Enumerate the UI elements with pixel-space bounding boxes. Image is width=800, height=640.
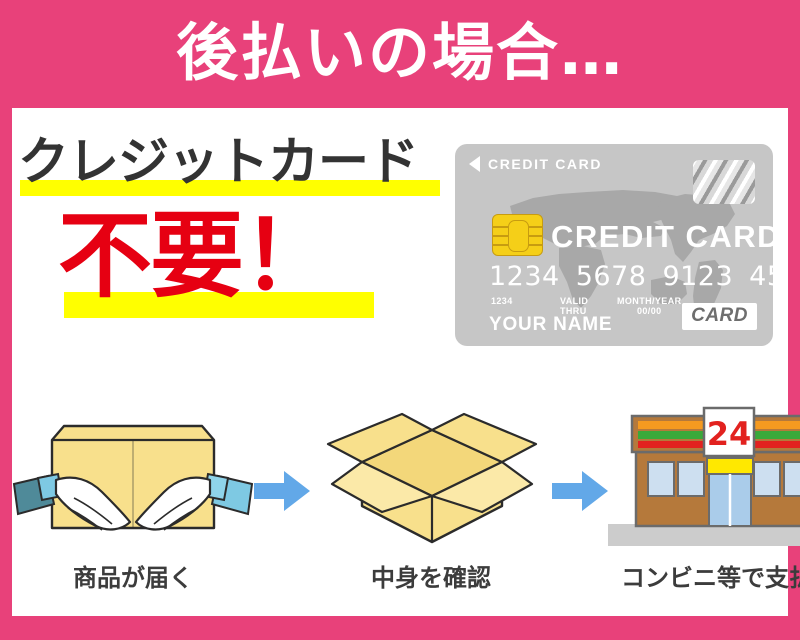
step-item-3: 24 コンビニ等で支払い (608, 400, 800, 616)
page-title: 後払いの場合… (176, 22, 624, 84)
hands-holding-box-icon (12, 400, 254, 550)
svg-text:24: 24 (707, 415, 752, 453)
step-label-1: 商品が届く (12, 558, 254, 593)
card-number-group-4: 4567 (749, 261, 773, 292)
triangle-left-icon (469, 156, 480, 172)
open-box-icon (310, 400, 552, 550)
upper-section: クレジットカード 不要！ (12, 108, 788, 388)
convenience-store-icon: 24 (608, 400, 800, 550)
right-arrow-icon (552, 469, 608, 513)
poster-root: 後払いの場合… クレジットカード 不要！ (0, 0, 800, 640)
claim-block: クレジットカード 不要！ (18, 126, 448, 356)
hologram-icon (693, 160, 755, 204)
arrow-1 (254, 416, 310, 566)
month-year-value: 00/00 (617, 306, 682, 316)
step-item-2: 中身を確認 (310, 400, 552, 616)
header-banner: 後払いの場合… (0, 0, 800, 106)
claim-line-1: クレジットカード (18, 126, 418, 198)
card-cvv-label: 1234 (491, 296, 513, 306)
card-header: CREDIT CARD (469, 156, 602, 172)
step-label-3: コンビニ等で支払い (608, 558, 800, 593)
content-panel: クレジットカード 不要！ (12, 108, 788, 616)
card-brand-badge: CARD (682, 303, 757, 330)
month-year-label: MONTH/YEAR (617, 296, 682, 306)
card-number: 1234567891234567 (489, 261, 773, 292)
step-item-1: 商品が届く (12, 400, 254, 616)
card-chip-icon (492, 214, 543, 256)
claim-line-2: 不要！ (58, 208, 334, 318)
card-number-group-3: 9123 (662, 261, 733, 292)
arrow-2 (552, 416, 608, 566)
card-number-group-1: 1234 (489, 261, 560, 292)
card-brand-label: CREDIT CARD (551, 219, 773, 255)
card-number-group-2: 5678 (576, 261, 647, 292)
step-label-2: 中身を確認 (310, 558, 552, 593)
credit-card-illustration: CREDIT CARD CREDIT CARD 1234567891234567… (455, 144, 773, 346)
claim-line-1-text: クレジットカード (18, 137, 418, 188)
right-arrow-icon (254, 469, 310, 513)
valid-thru-line-1: VALID (560, 296, 588, 306)
claim-line-2-text: 不要！ (58, 208, 334, 307)
card-holder-name: YOUR NAME (489, 314, 612, 336)
card-header-label: CREDIT CARD (488, 156, 602, 172)
steps-row: 商品が届く (12, 400, 788, 616)
card-month-year: MONTH/YEAR 00/00 (617, 296, 682, 317)
